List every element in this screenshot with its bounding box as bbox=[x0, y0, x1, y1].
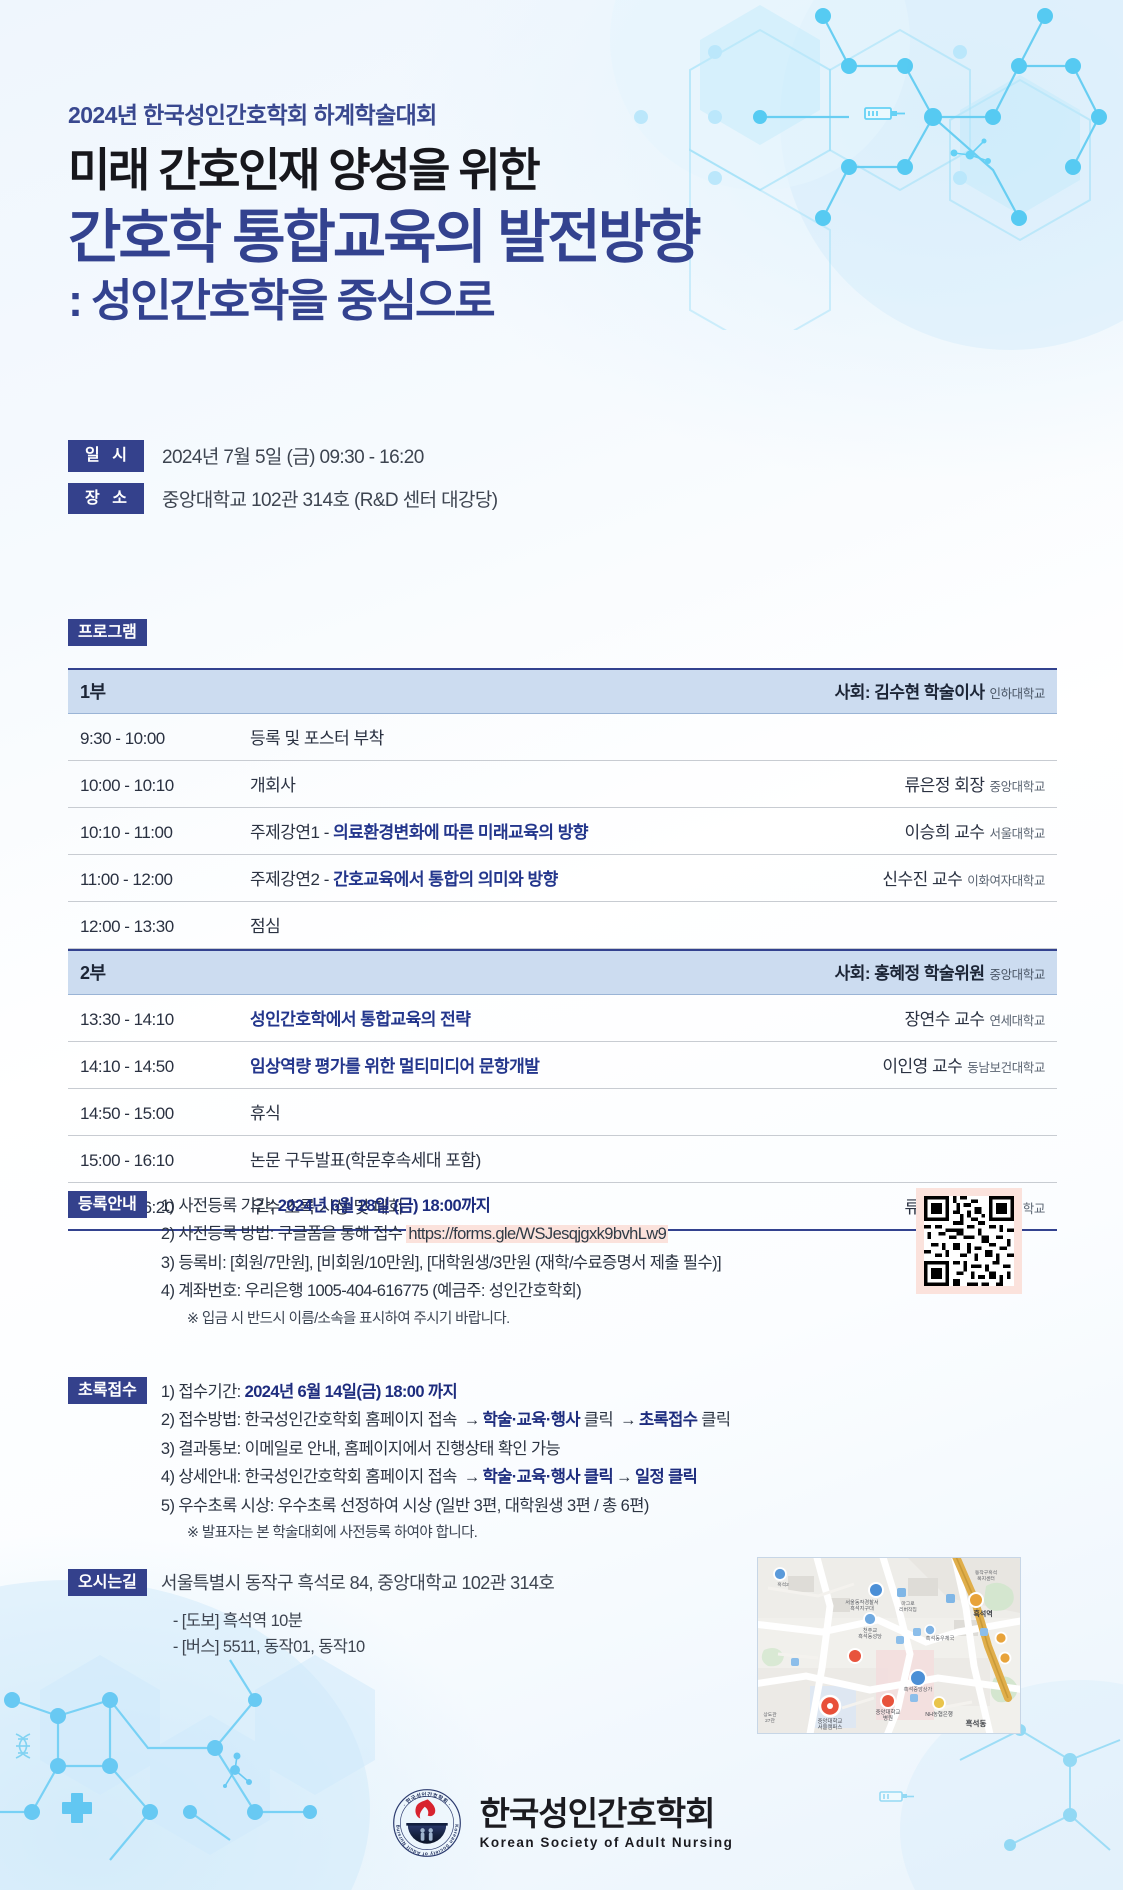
registration-line-3: 3) 등록비: [회원/7만원], [비회원/10만원], [대학원생/3만원 … bbox=[161, 1249, 721, 1277]
table-row: 14:50 - 15:00휴식 bbox=[68, 1089, 1057, 1136]
program-section-header: 1부사회: 김수현 학술이사인하대학교 bbox=[68, 668, 1057, 714]
registration-qr-code[interactable] bbox=[916, 1188, 1022, 1294]
program-row-title: 논문 구두발표(학문후속세대 포함) bbox=[250, 1146, 481, 1171]
registration-line-2: 2) 사전등록 방법: 구글폼을 통해 접수 https://forms.gle… bbox=[161, 1220, 721, 1248]
svg-text:서울캠퍼스: 서울캠퍼스 bbox=[818, 1723, 843, 1731]
svg-text:흑석동성당: 흑석동성당 bbox=[858, 1632, 882, 1640]
abstract-line-1: 1) 접수기간: 2024년 6월 14일(금) 18:00 까지 bbox=[161, 1378, 731, 1406]
program-row-title: 개회사 bbox=[250, 771, 295, 796]
program-section-header: 2부사회: 홍혜정 학술위원중앙대학교 bbox=[68, 949, 1057, 995]
program-section-chair-affiliation: 중앙대학교 bbox=[989, 968, 1045, 982]
svg-text:흑석동우체국: 흑석동우체국 bbox=[926, 1634, 955, 1642]
program-row-time: 14:10 - 14:50 bbox=[80, 1057, 250, 1077]
program-row-time: 14:50 - 15:00 bbox=[80, 1104, 250, 1124]
directions-label-chip: 오시는길 bbox=[68, 1569, 147, 1596]
program-row-speaker: 이인영 교수동남보건대학교 bbox=[882, 1052, 1045, 1077]
map-label-bank: NH농협은행 bbox=[925, 1710, 953, 1718]
info-row-date: 일 시 2024년 7월 5일 (금) 09:30 - 16:20 bbox=[68, 440, 498, 472]
abstract-label-chip: 초록접수 bbox=[68, 1377, 147, 1404]
program-label-wrap: 프로그램 bbox=[68, 622, 147, 644]
program-row-time: 11:00 - 12:00 bbox=[80, 870, 250, 890]
arrow-icon-3: → bbox=[461, 1468, 483, 1486]
map-label-university: 중앙대학교 bbox=[818, 1717, 843, 1725]
program-row-title: 임상역량 평가를 위한 멀티미디어 문항개발 bbox=[250, 1052, 539, 1077]
venue-map[interactable]: 서울동작경찰서 흑석지구대 천주교 흑석동성당 흑석동우체국 흑석중앙상가 마그… bbox=[757, 1557, 1021, 1734]
date-label-chip: 일 시 bbox=[68, 440, 144, 472]
abstract-note: ※ 발표자는 본 학술대회에 사전등록 하여야 합니다. bbox=[161, 1520, 731, 1548]
svg-text:27관: 27관 bbox=[765, 1717, 775, 1724]
program-row-title: 등록 및 포스터 부착 bbox=[250, 724, 384, 749]
registration-line-4: 4) 계좌번호: 우리은행 1005-404-616775 (예금주: 성인간호… bbox=[161, 1277, 721, 1305]
svg-text:복지센터: 복지센터 bbox=[977, 1575, 995, 1582]
svg-text:흑석지구대: 흑석지구대 bbox=[850, 1604, 874, 1612]
registration-label-chip: 등록안내 bbox=[68, 1191, 147, 1218]
program-row-speaker: 신수진 교수이화여자대학교 bbox=[882, 865, 1045, 890]
program-row-title: 성인간호학에서 통합교육의 전략 bbox=[250, 1005, 470, 1030]
page-title-line-2: 간호학 통합교육의 발전방향 bbox=[68, 204, 968, 272]
program-row-time: 15:00 - 16:10 bbox=[80, 1151, 250, 1171]
map-label-dong: 흑석동 bbox=[966, 1718, 987, 1728]
directions-notice: 오시는길 서울특별시 동작구 흑석로 84, 중앙대학교 102관 314호 -… bbox=[68, 1570, 554, 1661]
qr-code-icon bbox=[924, 1196, 1014, 1286]
program-row-title: 휴식 bbox=[250, 1099, 280, 1124]
table-row: 15:00 - 16:10논문 구두발표(학문후속세대 포함) bbox=[68, 1136, 1057, 1183]
conference-poster: 2024년 한국성인간호학회 하계학술대회 미래 간호인재 양성을 위한 간호학… bbox=[0, 0, 1123, 1890]
dna-icon bbox=[16, 1734, 30, 1758]
program-row-time: 13:30 - 14:10 bbox=[80, 1010, 250, 1030]
society-logo: · 한국성인간호학회 · Korean Society of Adult Nur… bbox=[0, 1786, 1123, 1860]
table-row: 10:10 - 11:00주제강연1 - 의료환경변화에 따른 미래교육의 방향… bbox=[68, 808, 1057, 855]
society-name-ko: 한국성인간호학회 bbox=[480, 1796, 734, 1832]
event-kicker: 2024년 한국성인간호학회 하계학술대회 bbox=[68, 96, 968, 130]
info-row-place: 장 소 중앙대학교 102관 314호 (R&D 센터 대강당) bbox=[68, 483, 498, 515]
program-label-chip: 프로그램 bbox=[68, 619, 147, 646]
registration-deadline: 2024년 6월 28일 (금) 18:00까지 bbox=[278, 1197, 490, 1215]
arrow-icon-4: → bbox=[613, 1468, 635, 1486]
program-section-name: 1부 bbox=[80, 678, 106, 704]
program-row-speaker: 장연수 교수연세대학교 bbox=[905, 1005, 1045, 1030]
abstract-deadline: 2024년 6월 14일(금) 18:00 까지 bbox=[245, 1383, 457, 1401]
program-section-chair: 사회: 홍혜정 학술위원중앙대학교 bbox=[835, 959, 1045, 984]
map-image: 서울동작경찰서 흑석지구대 천주교 흑석동성당 흑석동우체국 흑석중앙상가 마그… bbox=[758, 1558, 1020, 1733]
page-title-line-1: 미래 간호인재 양성을 위한 bbox=[68, 144, 968, 196]
program-row-affiliation: 연세대학교 bbox=[989, 1014, 1045, 1028]
event-info: 일 시 2024년 7월 5일 (금) 09:30 - 16:20 장 소 중앙… bbox=[68, 440, 498, 525]
date-value: 2024년 7월 5일 (금) 09:30 - 16:20 bbox=[162, 442, 424, 469]
poster-header: 2024년 한국성인간호학회 하계학술대회 미래 간호인재 양성을 위한 간호학… bbox=[68, 96, 968, 328]
svg-text:천주교: 천주교 bbox=[863, 1627, 878, 1634]
program-table: 1부사회: 김수현 학술이사인하대학교9:30 - 10:00등록 및 포스터 … bbox=[68, 668, 1057, 1231]
map-label-police: 서울동작경찰서 bbox=[845, 1598, 879, 1606]
molecule-icon-2 bbox=[223, 1753, 252, 1789]
program-row-speaker: 이승희 교수서울대학교 bbox=[905, 818, 1045, 843]
program-row-affiliation: 동남보건대학교 bbox=[967, 1061, 1045, 1075]
map-label-hospital: 중앙대학교 bbox=[876, 1708, 901, 1716]
table-row: 14:10 - 14:50임상역량 평가를 위한 멀티미디어 문항개발이인영 교… bbox=[68, 1042, 1057, 1089]
place-label-chip: 장 소 bbox=[68, 483, 144, 515]
svg-text:마그로: 마그로 bbox=[901, 1600, 915, 1607]
program-row-speaker: 류은정 회장중앙대학교 bbox=[905, 771, 1045, 796]
abstract-line-5: 5) 우수초록 시상: 우수초록 선정하여 시상 (일반 3편, 대학원생 3편… bbox=[161, 1492, 731, 1520]
abstract-notice: 초록접수 1) 접수기간: 2024년 6월 14일(금) 18:00 까지 2… bbox=[68, 1378, 730, 1547]
table-row: 11:00 - 12:00주제강연2 - 간호교육에서 통합의 의미와 방향신수… bbox=[68, 855, 1057, 902]
table-row: 10:00 - 10:10개회사류은정 회장중앙대학교 bbox=[68, 761, 1057, 808]
svg-text:리버작집: 리버작집 bbox=[899, 1606, 917, 1613]
registration-form-link[interactable]: https://forms.gle/WSJesqjgxk9bvhLw9 bbox=[406, 1225, 668, 1243]
table-row: 13:30 - 14:10성인간호학에서 통합교육의 전략장연수 교수연세대학교 bbox=[68, 995, 1057, 1042]
svg-text:상도관: 상도관 bbox=[763, 1711, 777, 1718]
program-row-affiliation: 서울대학교 bbox=[989, 827, 1045, 841]
program-row-title-highlight: 임상역량 평가를 위한 멀티미디어 문항개발 bbox=[250, 1057, 539, 1076]
program-row-time: 12:00 - 13:30 bbox=[80, 917, 250, 937]
program-row-title-highlight: 간호교육에서 통합의 의미와 방향 bbox=[333, 870, 558, 889]
program-row-title: 주제강연1 - 의료환경변화에 따른 미래교육의 방향 bbox=[250, 818, 588, 843]
abstract-line-2: 2) 접수방법: 한국성인간호학회 홈페이지 접속 →학술·교육·행사 클릭 →… bbox=[161, 1406, 731, 1434]
program-row-title-highlight: 성인간호학에서 통합교육의 전략 bbox=[250, 1010, 470, 1029]
program-section-chair: 사회: 김수현 학술이사인하대학교 bbox=[835, 678, 1045, 703]
program-row-time: 10:00 - 10:10 bbox=[80, 776, 250, 796]
directions-bus: - [버스] 5511, 동작01, 동작10 bbox=[161, 1634, 554, 1660]
program-row-affiliation: 중앙대학교 bbox=[989, 780, 1045, 794]
arrow-icon-2: → bbox=[617, 1411, 639, 1429]
program-row-title-highlight: 의료환경변화에 따른 미래교육의 방향 bbox=[333, 823, 588, 842]
registration-note: ※ 입금 시 반드시 이름/소속을 표시하여 주시기 바랍니다. bbox=[161, 1306, 721, 1334]
svg-text:병원: 병원 bbox=[883, 1714, 893, 1722]
program-row-time: 10:10 - 11:00 bbox=[80, 823, 250, 843]
registration-notice: 등록안내 1) 사전등록 기간: 2024년 6월 28일 (금) 18:00까… bbox=[68, 1192, 721, 1333]
directions-walk: - [도보] 흑석역 10분 bbox=[161, 1608, 554, 1634]
program-section-chair-affiliation: 인하대학교 bbox=[989, 687, 1045, 701]
program-row-affiliation: 이화여자대학교 bbox=[967, 874, 1045, 888]
svg-text:흑석2: 흑석2 bbox=[777, 1581, 789, 1588]
page-title-line-3: : 성인간호학을 중심으로 bbox=[68, 274, 968, 328]
abstract-line-4: 4) 상세안내: 한국성인간호학회 홈페이지 접속 →학술·교육·행사 클릭→일… bbox=[161, 1463, 731, 1491]
program-row-time: 9:30 - 10:00 bbox=[80, 729, 250, 749]
abstract-line-3: 3) 결과통보: 이메일로 안내, 홈페이지에서 진행상태 확인 가능 bbox=[161, 1435, 731, 1463]
society-emblem-icon: · 한국성인간호학회 · Korean Society of Adult Nur… bbox=[390, 1786, 464, 1860]
program-row-title: 주제강연2 - 간호교육에서 통합의 의미와 방향 bbox=[250, 865, 558, 890]
svg-text:동작구흑석: 동작구흑석 bbox=[975, 1569, 997, 1576]
registration-line-1: 1) 사전등록 기간: 2024년 6월 28일 (금) 18:00까지 bbox=[161, 1192, 721, 1220]
table-row: 9:30 - 10:00등록 및 포스터 부착 bbox=[68, 714, 1057, 761]
venue-address: 서울특별시 동작구 흑석로 84, 중앙대학교 102관 314호 bbox=[161, 1570, 554, 1598]
program-row-title: 점심 bbox=[250, 912, 280, 937]
arrow-icon-1: → bbox=[461, 1411, 483, 1429]
place-value: 중앙대학교 102관 314호 (R&D 센터 대강당) bbox=[162, 485, 498, 512]
svg-text:흑석중앙상가: 흑석중앙상가 bbox=[904, 1685, 933, 1693]
society-name-en: Korean Society of Adult Nursing bbox=[480, 1835, 734, 1850]
table-row: 12:00 - 13:30점심 bbox=[68, 902, 1057, 949]
map-label-station: 흑석역 bbox=[973, 1609, 992, 1618]
program-section-name: 2부 bbox=[80, 959, 106, 985]
